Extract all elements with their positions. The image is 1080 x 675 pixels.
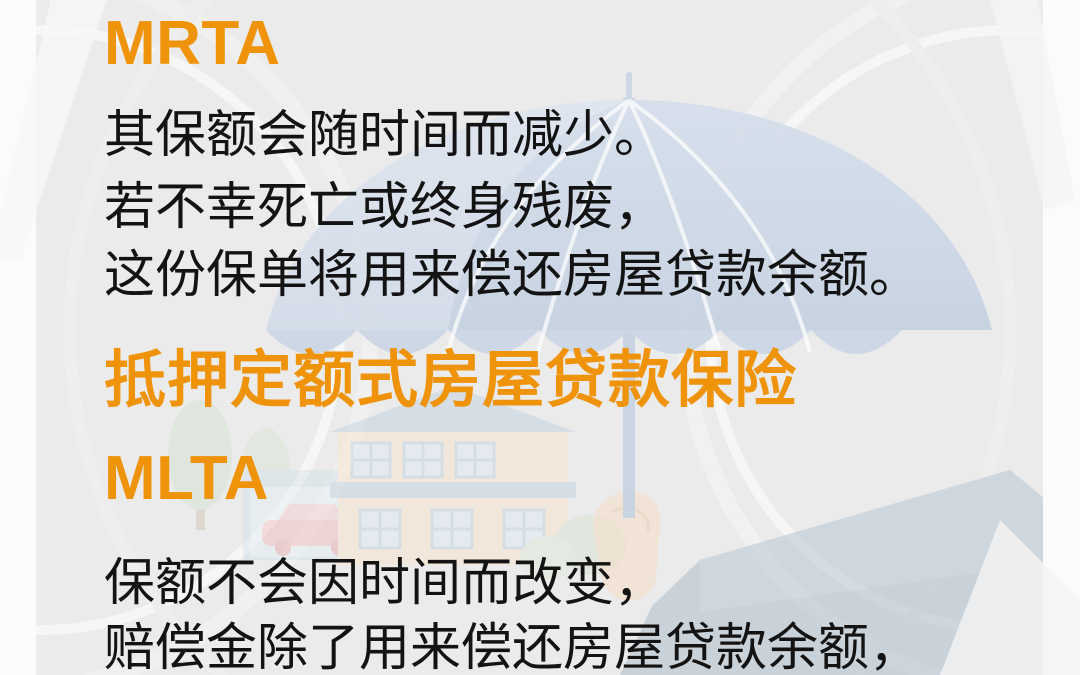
mrta-description-line-3: 这份保单将用来偿还房屋贷款余额。: [104, 244, 920, 306]
mlta-title-english: MLTA: [104, 443, 269, 515]
mlta-description-line-2: 赔偿金除了用来偿还房屋贷款余额，: [104, 617, 920, 675]
mlta-description-line-1: 保额不会因时间而改变，: [104, 552, 665, 614]
mrta-description-line-2: 若不幸死亡或终身残废，: [104, 176, 665, 238]
mrta-description-line-1: 其保额会随时间而减少。: [104, 104, 665, 166]
mlta-title-chinese: 抵押定额式房屋贷款保险: [104, 344, 797, 418]
slide-text-content: MRTA 其保额会随时间而减少。 若不幸死亡或终身残废， 这份保单将用来偿还房屋…: [0, 0, 1080, 675]
mrta-title: MRTA: [104, 8, 280, 80]
slide-canvas: MRTA 其保额会随时间而减少。 若不幸死亡或终身残废， 这份保单将用来偿还房屋…: [0, 0, 1080, 675]
